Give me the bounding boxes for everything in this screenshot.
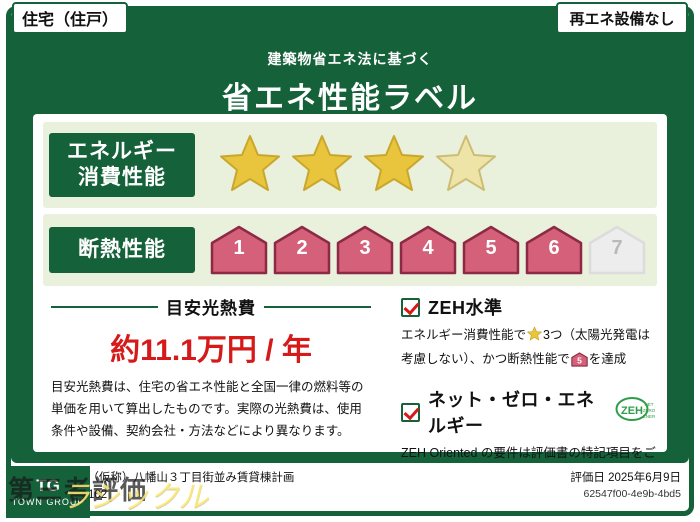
house-level-label-6: 6 [524, 237, 584, 260]
house-icon-inline: 5 [571, 352, 588, 375]
checkbox-checked-icon-zeh-standard [401, 298, 420, 317]
utility-cost-note: 目安光熱費は、住宅の省エネ性能と全国一律の燃料等の単価を用いて算出したものです。… [51, 377, 371, 443]
utility-cost-title: 目安光熱費 [166, 294, 256, 319]
energy-chip-line2: 消費性能 [49, 165, 195, 191]
header-title: 省エネ性能ラベル [11, 73, 689, 117]
svg-text:NET: NET [645, 402, 654, 407]
utility-cost-block: 目安光熱費 約11.1万円 / 年 目安光熱費は、住宅の省エネ性能と全国一律の燃… [51, 294, 371, 443]
utility-cost-title-row: 目安光熱費 [51, 294, 371, 319]
svg-text:ENER: ENER [643, 414, 656, 419]
label-header: 建築物省エネ法に基づく 省エネ性能ラベル [11, 49, 689, 117]
star-icon-inline [527, 330, 542, 344]
house-icon-level-3: 3 [335, 224, 395, 276]
zeh-block: ZEH水準 エネルギー消費性能で3つ（太陽光発電は考慮しない）、かつ断熱性能で5… [401, 294, 657, 463]
net-zero-energy-title: ネット・ゼロ・エネルギー [428, 386, 603, 438]
house-icon-level-4: 4 [398, 224, 458, 276]
zeh-badge-icon: ZEH NET ZERO ENER [615, 396, 657, 429]
house-icon-level-7: 7 [587, 224, 647, 276]
house-level-label-4: 4 [398, 237, 458, 260]
svg-text:ZEH: ZEH [621, 405, 643, 417]
net-zero-energy-note: ZEH Oriented の要件は評価書の特記項目をご覧ください。 [401, 443, 657, 463]
star-icon-filled-4 [435, 133, 497, 198]
green-body: 建築物省エネ法に基づく 省エネ性能ラベル エネルギー 消費性能 [11, 11, 689, 463]
zeh-standard-row: ZEH水準 [401, 294, 657, 320]
renewable-energy-tab: 再エネ設備なし [556, 2, 688, 34]
footer-evaluation-info: 評価日 2025年6月9日 62547f00-4e9b-4bd5 [570, 470, 681, 503]
utility-cost-value: 約11.1万円 / 年 [51, 325, 371, 369]
zeh-note-part-a: エネルギー消費性能で [401, 328, 526, 342]
rule-right [264, 306, 371, 308]
house-level-label-1: 1 [209, 237, 269, 260]
rule-left [51, 306, 158, 308]
net-zero-energy-row: ネット・ゼロ・エネルギー ZEH NET ZERO ENER [401, 386, 657, 438]
energy-performance-row: エネルギー 消費性能 [43, 122, 657, 208]
zeh-standard-note: エネルギー消費性能で3つ（太陽光発電は考慮しない）、かつ断熱性能で5を達成 [401, 325, 657, 374]
insulation-level-scale: 1 2 3 4 5 [195, 224, 657, 276]
house-icon-level-6: 6 [524, 224, 584, 276]
content-panel: エネルギー 消費性能 [33, 114, 667, 452]
house-level-label-2: 2 [272, 237, 332, 260]
svg-text:ZERO: ZERO [643, 408, 656, 413]
house-level-label-3: 3 [335, 237, 395, 260]
housing-type-tab: 住宅（住戸） [12, 2, 128, 34]
energy-performance-chip: エネルギー 消費性能 [49, 133, 195, 198]
checkbox-checked-icon-net-zero [401, 403, 420, 422]
house-icon-level-5: 5 [461, 224, 521, 276]
energy-chip-line1: エネルギー [49, 139, 195, 165]
footer-evaluation-code: 62547f00-4e9b-4bd5 [570, 487, 681, 503]
star-icon-filled-1 [219, 133, 281, 198]
star-icon-filled-2 [291, 133, 353, 198]
house-level-label-7: 7 [587, 237, 647, 260]
energy-performance-label: 建築物省エネ法に基づく 省エネ性能ラベル エネルギー 消費性能 [0, 0, 700, 522]
insulation-chip: 断熱性能 [49, 227, 195, 273]
footer-evaluation-date: 評価日 2025年6月9日 [570, 470, 681, 487]
script-watermark: ラシックル [60, 472, 209, 516]
energy-star-rating [195, 133, 657, 198]
insulation-performance-row: 断熱性能 1 2 3 4 [43, 214, 657, 286]
zeh-standard-title: ZEH水準 [428, 294, 503, 320]
house-icon-level-1: 1 [209, 224, 269, 276]
house-level-label-5: 5 [461, 237, 521, 260]
header-subtitle: 建築物省エネ法に基づく [11, 49, 689, 69]
svg-text:5: 5 [577, 355, 582, 365]
zeh-note-part-c: を達成 [589, 352, 627, 366]
house-icon-level-2: 2 [272, 224, 332, 276]
star-icon-filled-3 [363, 133, 425, 198]
